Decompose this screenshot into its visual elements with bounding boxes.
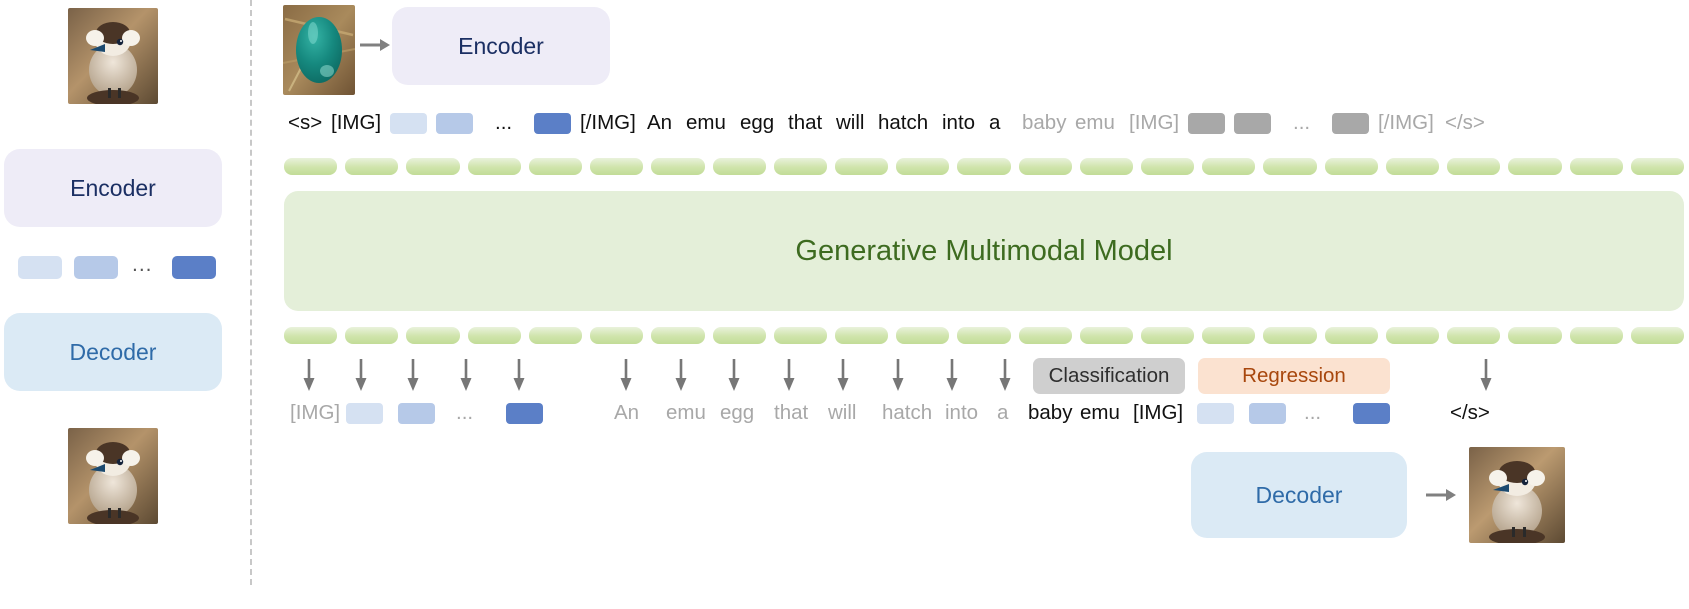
- regression-label: Regression: [1242, 364, 1346, 388]
- input-embedding-bar: [1080, 158, 1133, 175]
- right-arrow-icon: [1424, 483, 1458, 507]
- generated-output-image: [1469, 447, 1565, 543]
- down-arrow-icon: [1479, 358, 1493, 392]
- output-text-token: emu: [1080, 398, 1120, 428]
- output-embedding-bar: [529, 327, 582, 344]
- input-visual-swatch: [1188, 113, 1225, 134]
- output-embedding-bar: [345, 327, 398, 344]
- generative-multimodal-model-block: Generative Multimodal Model: [284, 191, 1684, 311]
- output-text-token: </s>: [1450, 398, 1490, 428]
- input-text-token: baby: [1022, 108, 1066, 138]
- input-embedding-bar: [1202, 158, 1255, 175]
- input-embedding-bar: [1386, 158, 1439, 175]
- down-arrow-icon: [354, 358, 368, 392]
- input-embedding-strip: [284, 158, 1684, 175]
- top-encoder-block: Encoder: [392, 7, 610, 85]
- down-arrow-icon: [512, 358, 526, 392]
- input-text-token: that: [788, 108, 822, 138]
- output-embedding-bar: [957, 327, 1010, 344]
- output-embedding-bar: [774, 327, 827, 344]
- output-text-token: ...: [456, 398, 473, 428]
- output-visual-swatch: [506, 403, 543, 424]
- input-embedding-bar: [1263, 158, 1316, 175]
- panel-divider: [250, 0, 252, 585]
- input-embedding-bar: [1019, 158, 1072, 175]
- down-arrow-icon: [945, 358, 959, 392]
- input-visual-swatch: [1332, 113, 1369, 134]
- input-text-token: hatch: [878, 108, 928, 138]
- output-embedding-bar: [1263, 327, 1316, 344]
- input-text-token: ...: [495, 108, 512, 138]
- legend-encoder-label: Encoder: [70, 175, 156, 202]
- down-arrow-icon: [782, 358, 796, 392]
- classification-label: Classification: [1049, 364, 1170, 388]
- input-text-token: into: [942, 108, 975, 138]
- legend-swatch-light: [18, 256, 62, 279]
- legend-swatch-mid: [74, 256, 118, 279]
- output-visual-swatch: [1197, 403, 1234, 424]
- output-text-token: An: [614, 398, 639, 428]
- legend-top-image: [68, 8, 158, 104]
- down-arrow-icon: [674, 358, 688, 392]
- down-arrow-icon: [891, 358, 905, 392]
- output-embedding-bar: [468, 327, 521, 344]
- regression-head-pill: Regression: [1198, 358, 1390, 394]
- input-embedding-bar: [957, 158, 1010, 175]
- output-text-token: [IMG]: [290, 398, 340, 428]
- output-text-token: a: [997, 398, 1008, 428]
- input-embedding-bar: [345, 158, 398, 175]
- down-arrow-icon: [459, 358, 473, 392]
- bottom-decoder-label: Decoder: [1256, 482, 1343, 509]
- input-embedding-bar: [835, 158, 888, 175]
- decoder-to-image-arrow: [1424, 483, 1458, 507]
- input-embedding-bar: [1325, 158, 1378, 175]
- input-visual-swatch: [534, 113, 571, 134]
- output-embedding-bar: [1202, 327, 1255, 344]
- input-embedding-bar: [406, 158, 459, 175]
- right-arrow-icon: [358, 33, 392, 57]
- input-visual-swatch: [1234, 113, 1271, 134]
- down-arrow-icon: [302, 358, 316, 392]
- input-text-token: emu: [1075, 108, 1115, 138]
- input-text-token: ...: [1293, 108, 1310, 138]
- input-visual-swatch: [390, 113, 427, 134]
- emu-chick-photo-icon: [68, 8, 158, 104]
- legend-ellipsis: ...: [132, 253, 153, 277]
- input-text-token: [IMG]: [331, 108, 381, 138]
- output-text-token: [IMG]: [1133, 398, 1183, 428]
- input-text-token: a: [989, 108, 1000, 138]
- down-arrow-icon: [406, 358, 420, 392]
- down-arrow-icon: [619, 358, 633, 392]
- output-embedding-bar: [1019, 327, 1072, 344]
- output-embedding-bar: [1570, 327, 1623, 344]
- output-text-token: ...: [1304, 398, 1321, 428]
- legend-encoder-block: Encoder: [4, 149, 222, 227]
- input-text-token: </s>: [1445, 108, 1485, 138]
- down-arrow-icon: [727, 358, 741, 392]
- input-embedding-bar: [284, 158, 337, 175]
- egg-to-encoder-arrow: [358, 33, 392, 57]
- input-text-token: An: [647, 108, 672, 138]
- output-visual-swatch: [398, 403, 435, 424]
- input-embedding-bar: [713, 158, 766, 175]
- input-embedding-bar: [529, 158, 582, 175]
- teal-egg-photo-icon: [283, 5, 355, 95]
- output-visual-swatch: [346, 403, 383, 424]
- output-embedding-bar: [284, 327, 337, 344]
- input-embedding-bar: [774, 158, 827, 175]
- input-embedding-bar: [468, 158, 521, 175]
- output-embedding-bar: [1080, 327, 1133, 344]
- input-text-token: [/IMG]: [580, 108, 636, 138]
- output-embedding-bar: [713, 327, 766, 344]
- input-embedding-bar: [590, 158, 643, 175]
- top-encoder-label: Encoder: [458, 33, 544, 60]
- input-text-token: will: [836, 108, 864, 138]
- input-text-token: egg: [740, 108, 774, 138]
- legend-swatch-dark: [172, 256, 216, 279]
- output-embedding-bar: [1141, 327, 1194, 344]
- output-text-token: egg: [720, 398, 754, 428]
- down-arrow-icon: [998, 358, 1012, 392]
- output-text-token: emu: [666, 398, 706, 428]
- output-embedding-bar: [835, 327, 888, 344]
- input-text-token: [IMG]: [1129, 108, 1179, 138]
- input-egg-image: [283, 5, 355, 95]
- output-embedding-bar: [1447, 327, 1500, 344]
- output-text-token: baby: [1028, 398, 1072, 428]
- output-embedding-bar: [651, 327, 704, 344]
- output-visual-swatch: [1249, 403, 1286, 424]
- input-embedding-bar: [1631, 158, 1684, 175]
- input-embedding-bar: [651, 158, 704, 175]
- legend-bottom-image: [68, 428, 158, 524]
- legend-token-swatches: ...: [4, 256, 222, 282]
- output-embedding-bar: [896, 327, 949, 344]
- bottom-decoder-block: Decoder: [1191, 452, 1407, 538]
- output-embedding-bar: [590, 327, 643, 344]
- input-embedding-bar: [896, 158, 949, 175]
- input-token-sequence: <s>[IMG]...[/IMG]Anemueggthatwillhatchin…: [284, 108, 1684, 138]
- output-embedding-bar: [1631, 327, 1684, 344]
- emu-chick-photo-icon: [68, 428, 158, 524]
- output-embedding-bar: [1508, 327, 1561, 344]
- output-embedding-bar: [1386, 327, 1439, 344]
- output-text-token: hatch: [882, 398, 932, 428]
- input-embedding-bar: [1508, 158, 1561, 175]
- input-embedding-bar: [1570, 158, 1623, 175]
- output-visual-swatch: [1353, 403, 1390, 424]
- legend-decoder-block: Decoder: [4, 313, 222, 391]
- output-text-token: into: [945, 398, 978, 428]
- emu-chick-photo-icon: [1469, 447, 1565, 543]
- input-text-token: <s>: [288, 108, 322, 138]
- output-text-token: that: [774, 398, 808, 428]
- output-embedding-strip: [284, 327, 1684, 344]
- output-arrow-row: [284, 358, 1684, 398]
- input-embedding-bar: [1141, 158, 1194, 175]
- output-embedding-bar: [406, 327, 459, 344]
- input-visual-swatch: [436, 113, 473, 134]
- output-embedding-bar: [1325, 327, 1378, 344]
- output-text-token: will: [828, 398, 856, 428]
- input-embedding-bar: [1447, 158, 1500, 175]
- diagram-canvas: Encoder ... Decoder: [0, 0, 1689, 585]
- classification-head-pill: Classification: [1033, 358, 1185, 394]
- input-text-token: emu: [686, 108, 726, 138]
- down-arrow-icon: [836, 358, 850, 392]
- model-label: Generative Multimodal Model: [795, 235, 1172, 268]
- output-token-sequence: [IMG]...Anemueggthatwillhatchintoababyem…: [284, 398, 1684, 428]
- legend-decoder-label: Decoder: [70, 339, 157, 366]
- input-text-token: [/IMG]: [1378, 108, 1434, 138]
